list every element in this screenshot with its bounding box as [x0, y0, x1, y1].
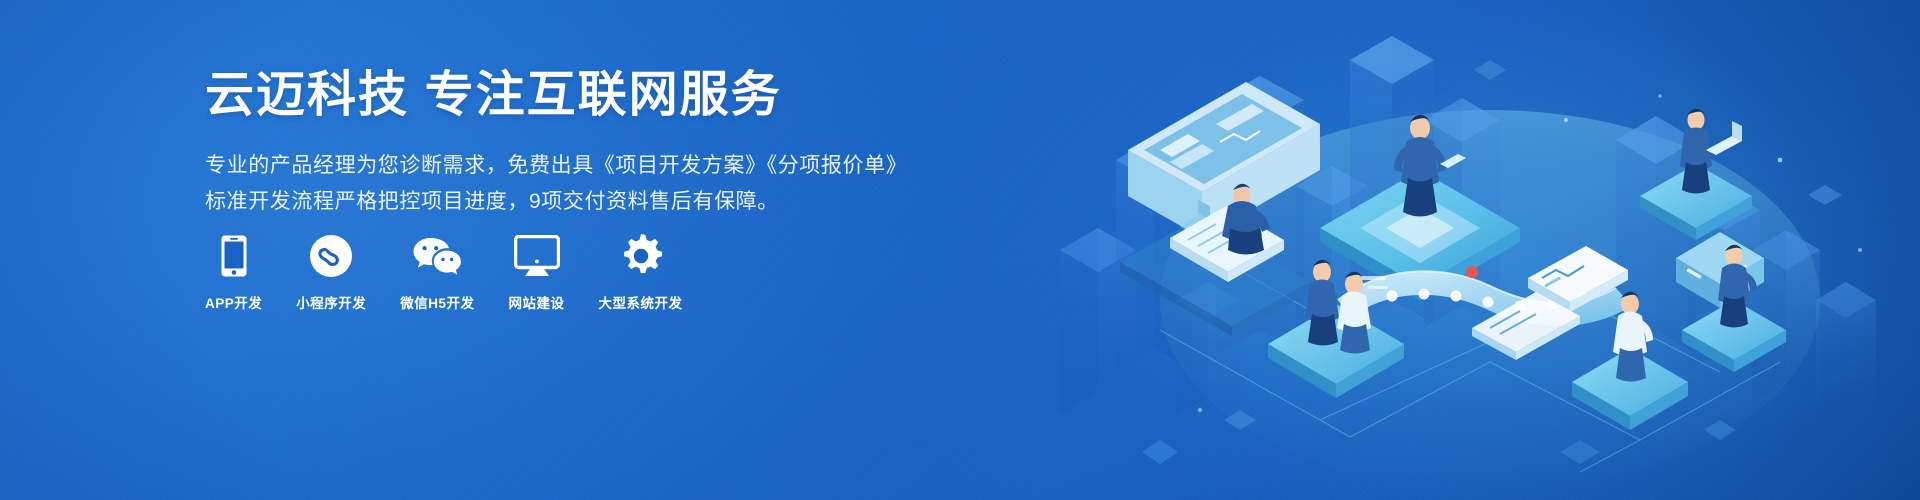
service-item-app[interactable]: APP开发 [205, 232, 262, 312]
service-item-large-system[interactable]: 大型系统开发 [599, 232, 683, 312]
monitor-icon [514, 232, 560, 280]
banner-subtitle-line-1: 专业的产品经理为您诊断需求，免费出具《项目开发方案》《分项报价单》 [205, 149, 905, 183]
service-item-website[interactable]: 网站建设 [509, 232, 565, 312]
service-item-mini-program[interactable]: 小程序开发 [296, 232, 366, 312]
gear-icon [619, 232, 663, 280]
mini-program-icon [310, 232, 352, 280]
service-label-mini-program: 小程序开发 [296, 292, 366, 312]
service-label-large-system: 大型系统开发 [599, 292, 683, 312]
service-label-app: APP开发 [205, 292, 262, 312]
banner-subtitle-line-2: 标准开发流程严格把控项目进度，9项交付资料售后有保障。 [205, 185, 905, 219]
service-label-wechat-h5: 微信H5开发 [400, 292, 474, 312]
service-item-wechat[interactable]: 微信H5开发 [400, 232, 474, 312]
service-list: APP开发 小程序开发 [205, 232, 683, 312]
illustration-isometric-technology-scene [1020, 0, 1920, 500]
banner-headline: 云迈科技 专注互联网服务 [205, 68, 905, 123]
hero-banner: 云迈科技 专注互联网服务 专业的产品经理为您诊断需求，免费出具《项目开发方案》《… [0, 0, 1920, 500]
service-label-website: 网站建设 [509, 292, 565, 312]
banner-text-block: 云迈科技 专注互联网服务 专业的产品经理为您诊断需求，免费出具《项目开发方案》《… [205, 68, 905, 219]
mobile-phone-icon [221, 232, 247, 280]
wechat-icon [412, 232, 462, 280]
